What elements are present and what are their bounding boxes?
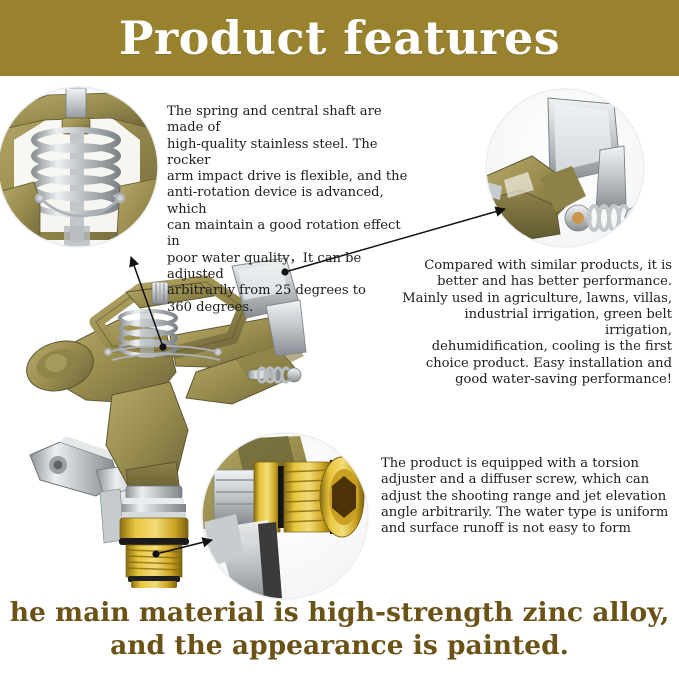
- arrow-to-spring-inset: [131, 257, 167, 351]
- feature-text-comparison: Compared with similar products, it is be…: [402, 258, 672, 388]
- bottom-caption: he main material is high-strength zinc a…: [0, 596, 679, 662]
- feature-text-spring-shaft: The spring and central shaft are made of…: [167, 104, 412, 316]
- arrow-to-diffuser-inset: [152, 540, 212, 558]
- feature-text-torsion-adjuster: The product is equipped with a torsion a…: [381, 456, 673, 537]
- infographic-page: Product features: [0, 0, 679, 679]
